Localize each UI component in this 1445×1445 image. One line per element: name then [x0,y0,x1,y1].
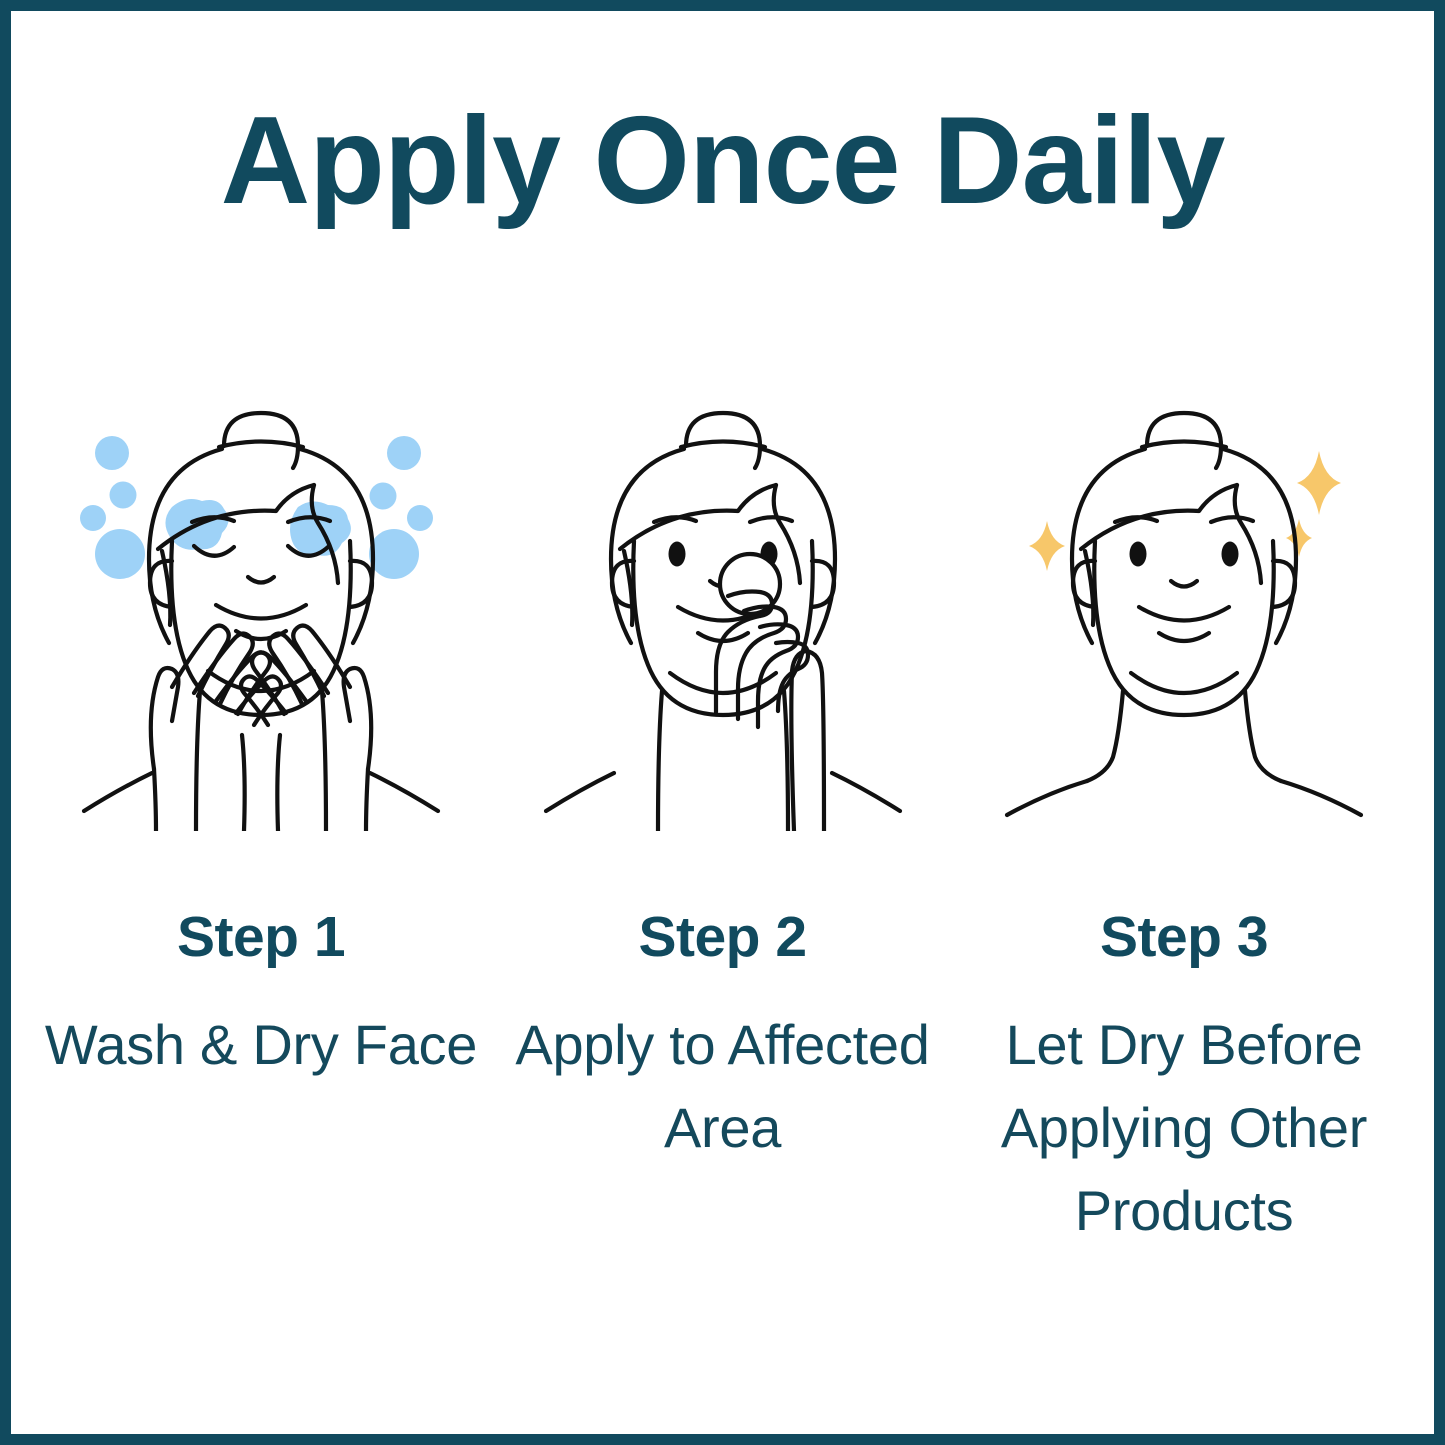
woman-applying-with-cotton-pad-icon [538,391,908,831]
step-caption-3: Let Dry Before Applying Other Products [964,1004,1404,1253]
step-column-2: Step 2 Apply to Affected Area [503,391,943,1170]
step-column-1: Step 1 Wash & Dry Face [41,391,481,1087]
step-heading-1: Step 1 [177,909,345,966]
woman-washing-face-with-bubbles-icon [76,391,446,831]
step-heading-2: Step 2 [638,909,806,966]
step-caption-2: Apply to Affected Area [503,1004,943,1170]
steps-row: Step 1 Wash & Dry Face [11,391,1434,1253]
step-column-3: Step 3 Let Dry Before Applying Other Pro… [964,391,1404,1253]
woman-clean-face-with-sparkles-icon [999,391,1369,831]
page-title: Apply Once Daily [11,99,1434,223]
instruction-card: Apply Once Daily [0,0,1445,1445]
step-heading-3: Step 3 [1100,909,1268,966]
step-caption-1: Wash & Dry Face [45,1004,477,1087]
